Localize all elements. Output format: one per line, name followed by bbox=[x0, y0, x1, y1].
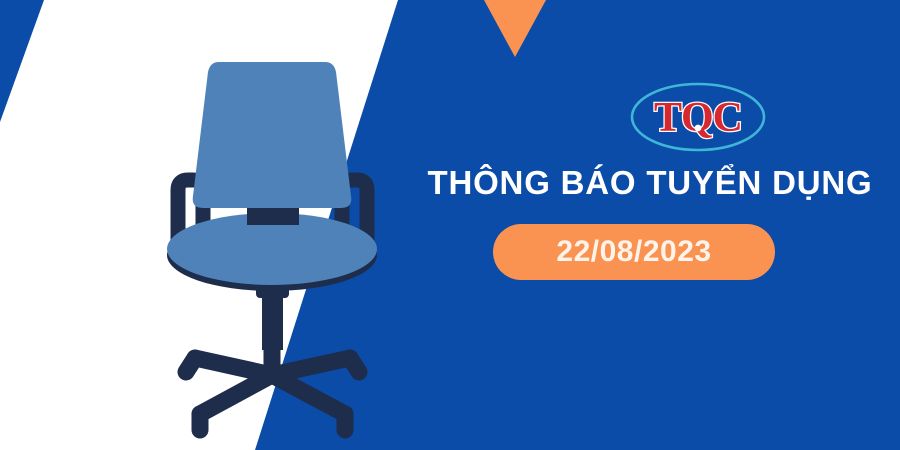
chair-backrest bbox=[193, 62, 352, 208]
tqc-logo-mark: TQC bbox=[628, 78, 768, 156]
right-content-panel: TQC THÔNG BÁO TUYỂN DỤNG 22/08/2023 bbox=[400, 0, 900, 450]
page-title: THÔNG BÁO TUYỂN DỤNG bbox=[400, 163, 900, 203]
chair-base-group bbox=[186, 272, 359, 430]
logo-text: TQC bbox=[654, 95, 742, 141]
date-badge: 22/08/2023 bbox=[493, 224, 775, 280]
date-badge-label: 22/08/2023 bbox=[556, 235, 711, 269]
recruitment-announcement-banner: TQC THÔNG BÁO TUYỂN DỤNG 22/08/2023 bbox=[0, 0, 900, 450]
tqc-logo: TQC bbox=[628, 78, 768, 156]
logo-dot bbox=[695, 125, 702, 132]
